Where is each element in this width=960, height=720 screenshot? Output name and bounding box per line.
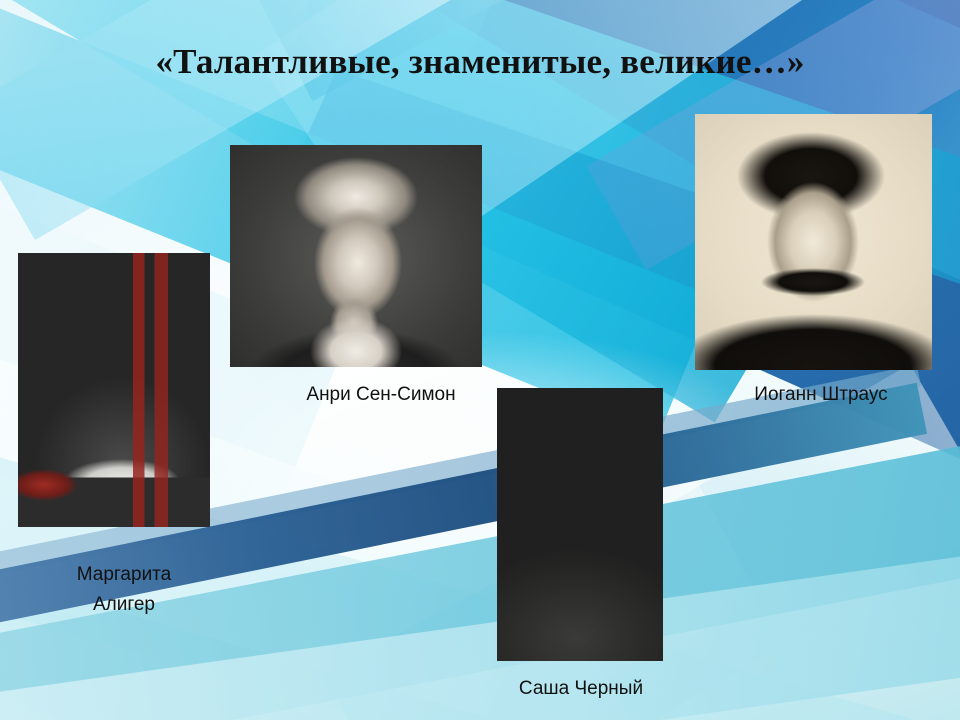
portrait-photo-chorny (497, 388, 663, 661)
portrait-image-saintsimon (230, 145, 482, 367)
caption-chorny: Саша Черный (490, 675, 672, 702)
background-center-glow (180, 330, 800, 610)
caption-strauss: Иоганн Штраус (715, 381, 927, 408)
slide-canvas: «Талантливые, знаменитые, великие…» Анри… (0, 0, 960, 720)
caption-aliger-line-1: Маргарита (33, 560, 215, 590)
slide-title: «Талантливые, знаменитые, великие…» (0, 42, 960, 82)
portrait-image-strauss (695, 114, 932, 370)
caption-saintsimon: Анри Сен-Симон (275, 381, 487, 408)
portrait-photo-saintsimon (230, 145, 482, 367)
caption-aliger-line-2: Алигер (33, 590, 215, 620)
caption-aliger: Маргарита Алигер (33, 560, 215, 620)
portrait-image-chorny (497, 388, 663, 661)
portrait-image-aliger (18, 253, 210, 527)
portrait-photo-aliger (18, 253, 210, 527)
portrait-photo-strauss (695, 114, 932, 370)
background-band-mid-2 (0, 520, 960, 720)
